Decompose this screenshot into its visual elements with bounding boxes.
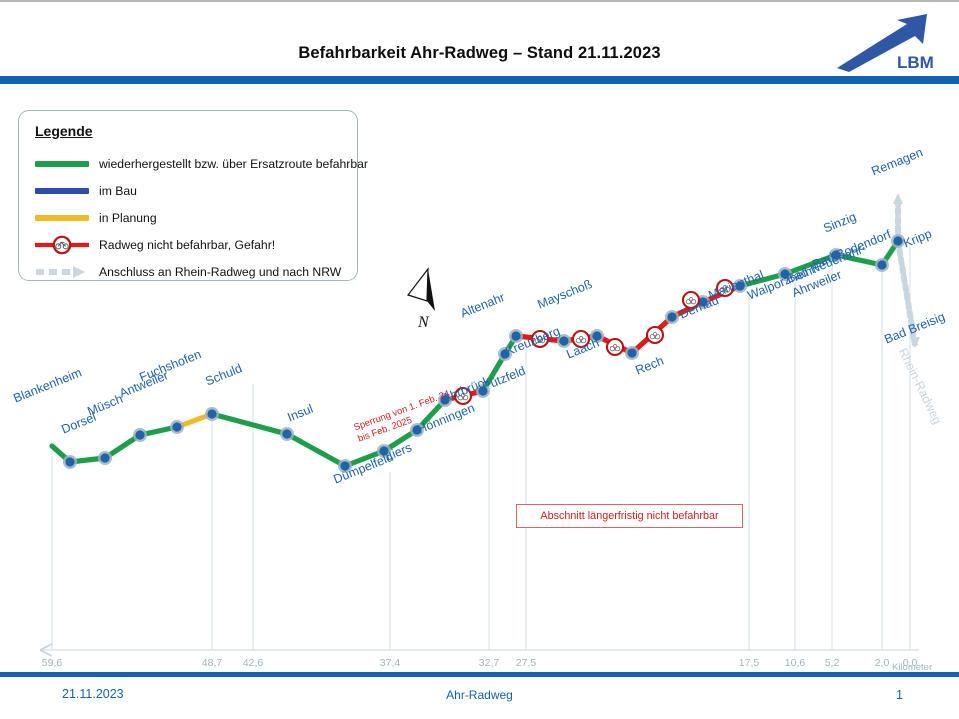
axis-tick-label: 37,4 — [380, 657, 400, 669]
route-node[interactable] — [877, 260, 886, 269]
dashed-arrow-head-icon — [910, 337, 920, 348]
long-term-closure-label: Abschnitt längerfristig nicht befahrbar — [540, 510, 718, 522]
route-node[interactable] — [135, 430, 144, 439]
route-node[interactable] — [207, 409, 216, 418]
axis-tick-label: 48,7 — [202, 657, 222, 669]
axis-tick-label: 2,0 — [875, 657, 890, 669]
footer-title: Ahr-Radweg — [0, 688, 959, 702]
header-accent-bar — [0, 76, 959, 84]
dashed-arrow-head-icon — [893, 193, 903, 204]
route-node[interactable] — [65, 457, 74, 466]
route-node[interactable] — [282, 429, 291, 438]
svg-text:LBM: LBM — [897, 53, 934, 72]
axis-tick-label: 42,6 — [243, 657, 263, 669]
route-node[interactable] — [667, 312, 676, 321]
footer-page-number: 1 — [896, 688, 903, 702]
no-bicycle-icon: ⚲ — [647, 327, 663, 343]
route-node[interactable] — [559, 336, 568, 345]
lbm-logo-icon: LBM — [835, 10, 941, 74]
axis-tick-label: 59,6 — [42, 657, 62, 669]
axis-tick-label: 17,5 — [739, 657, 759, 669]
axis-tick-label: 10,6 — [785, 657, 805, 669]
axis-tick-label: 5,2 — [825, 657, 840, 669]
page-title: Befahrbarkeit Ahr-Radweg – Stand 21.11.2… — [0, 44, 959, 63]
axis-tick-label: 27,5 — [516, 657, 536, 669]
compass-north-icon: N — [404, 267, 450, 329]
route-segment-green — [212, 414, 287, 434]
route-node[interactable] — [627, 348, 636, 357]
long-term-closure-box: Abschnitt längerfristig nicht befahrbar — [516, 504, 743, 528]
route-segment-green — [287, 434, 345, 466]
route-chart: ⚲⚲⚲⚲⚲⚲⚲ N Sperrung von 1. Feb. 24 bis Fe… — [0, 84, 959, 669]
no-bicycle-icon: ⚲ — [607, 339, 623, 355]
slide-page: Befahrbarkeit Ahr-Radweg – Stand 21.11.2… — [0, 0, 959, 719]
axis-tick-label: 32,7 — [479, 657, 499, 669]
header-band — [0, 2, 959, 76]
axis-line-group — [40, 644, 919, 656]
route-node[interactable] — [172, 422, 181, 431]
compass-letter: N — [417, 314, 430, 329]
footer-accent-bar — [0, 672, 959, 677]
route-node[interactable] — [100, 453, 109, 462]
